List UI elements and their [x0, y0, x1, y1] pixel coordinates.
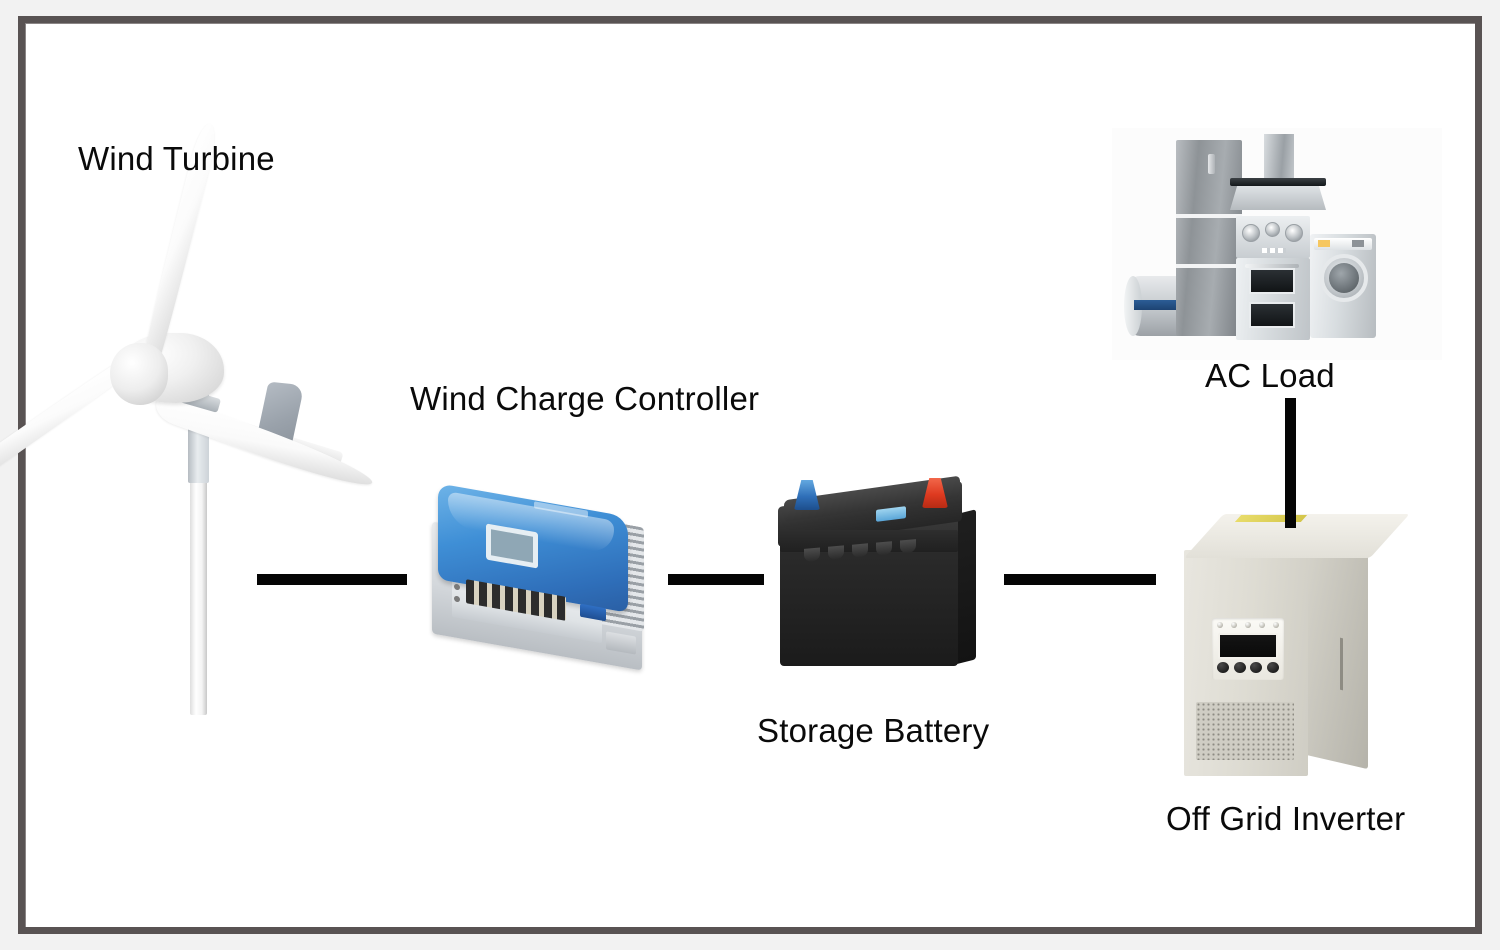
wind-charge-controller-illustration — [424, 484, 674, 674]
battery-cell-cap — [900, 539, 916, 553]
oven-window-upper — [1249, 268, 1295, 294]
battery-cell-cap — [876, 541, 892, 555]
wire-controller-to-battery — [668, 574, 764, 585]
inverter-led — [1231, 622, 1237, 628]
controller-status-led-top — [454, 583, 460, 590]
inverter-vent-grille — [1196, 702, 1294, 760]
cooktop-burner-right — [1285, 224, 1303, 242]
inverter-button[interactable] — [1234, 662, 1246, 673]
washing-machine-detergent-drawer — [1352, 240, 1364, 247]
range-hood-canopy — [1230, 184, 1326, 210]
inverter-led — [1259, 622, 1265, 628]
inverter-led-indicators — [1217, 622, 1279, 630]
inverter-button[interactable] — [1217, 662, 1229, 673]
inverter-led — [1273, 622, 1279, 628]
label-wind-turbine: Wind Turbine — [78, 140, 275, 178]
refrigerator-handle — [1208, 154, 1215, 174]
off-grid-inverter-illustration — [1180, 518, 1380, 788]
diagram-stage: Wind Turbine Wind Charge Controller Stor… — [0, 0, 1500, 950]
battery-negative-terminal — [794, 480, 820, 510]
inverter-top-accent-strip — [1235, 515, 1307, 522]
range-hood-front-bar — [1230, 178, 1326, 186]
inverter-lcd-display — [1218, 633, 1278, 659]
label-storage-battery: Storage Battery — [757, 712, 989, 750]
battery-cell-cap — [828, 545, 844, 559]
battery-cell-cap — [804, 547, 820, 561]
inverter-led — [1245, 622, 1251, 628]
water-heater-label — [1134, 300, 1178, 310]
inverter-led — [1217, 622, 1223, 628]
wire-battery-to-inverter — [1004, 574, 1156, 585]
wire-inverter-to-ac-load — [1285, 398, 1296, 528]
cooktop-control-knobs — [1262, 248, 1286, 253]
label-off-grid-inverter: Off Grid Inverter — [1166, 800, 1405, 838]
refrigerator-door-seam-lower — [1176, 264, 1242, 268]
refrigerator-door-seam-upper — [1176, 214, 1242, 218]
cooktop-burner-left — [1242, 224, 1260, 242]
ac-load-illustration — [1112, 128, 1442, 360]
cooktop-burner-center — [1265, 222, 1280, 237]
washing-machine-display — [1318, 240, 1330, 247]
inverter-button[interactable] — [1267, 662, 1279, 673]
inverter-button[interactable] — [1250, 662, 1262, 673]
controller-status-led-bottom — [454, 595, 460, 602]
label-wind-charge-controller: Wind Charge Controller — [410, 380, 759, 418]
turbine-hub-nosecone — [110, 343, 168, 405]
inverter-button-row — [1217, 662, 1279, 674]
wire-turbine-to-controller — [257, 574, 407, 585]
inverter-side-panel — [1306, 527, 1368, 769]
inverter-side-seam — [1340, 638, 1343, 691]
diagram-canvas: Wind Turbine Wind Charge Controller Stor… — [0, 0, 1500, 950]
wind-turbine-illustration — [10, 215, 410, 715]
storage-battery-illustration — [770, 478, 980, 688]
oven-window-lower — [1249, 302, 1295, 328]
battery-cell-cap — [852, 543, 868, 557]
label-ac-load: AC Load — [1205, 357, 1335, 395]
washing-machine-door-glass — [1329, 263, 1359, 293]
